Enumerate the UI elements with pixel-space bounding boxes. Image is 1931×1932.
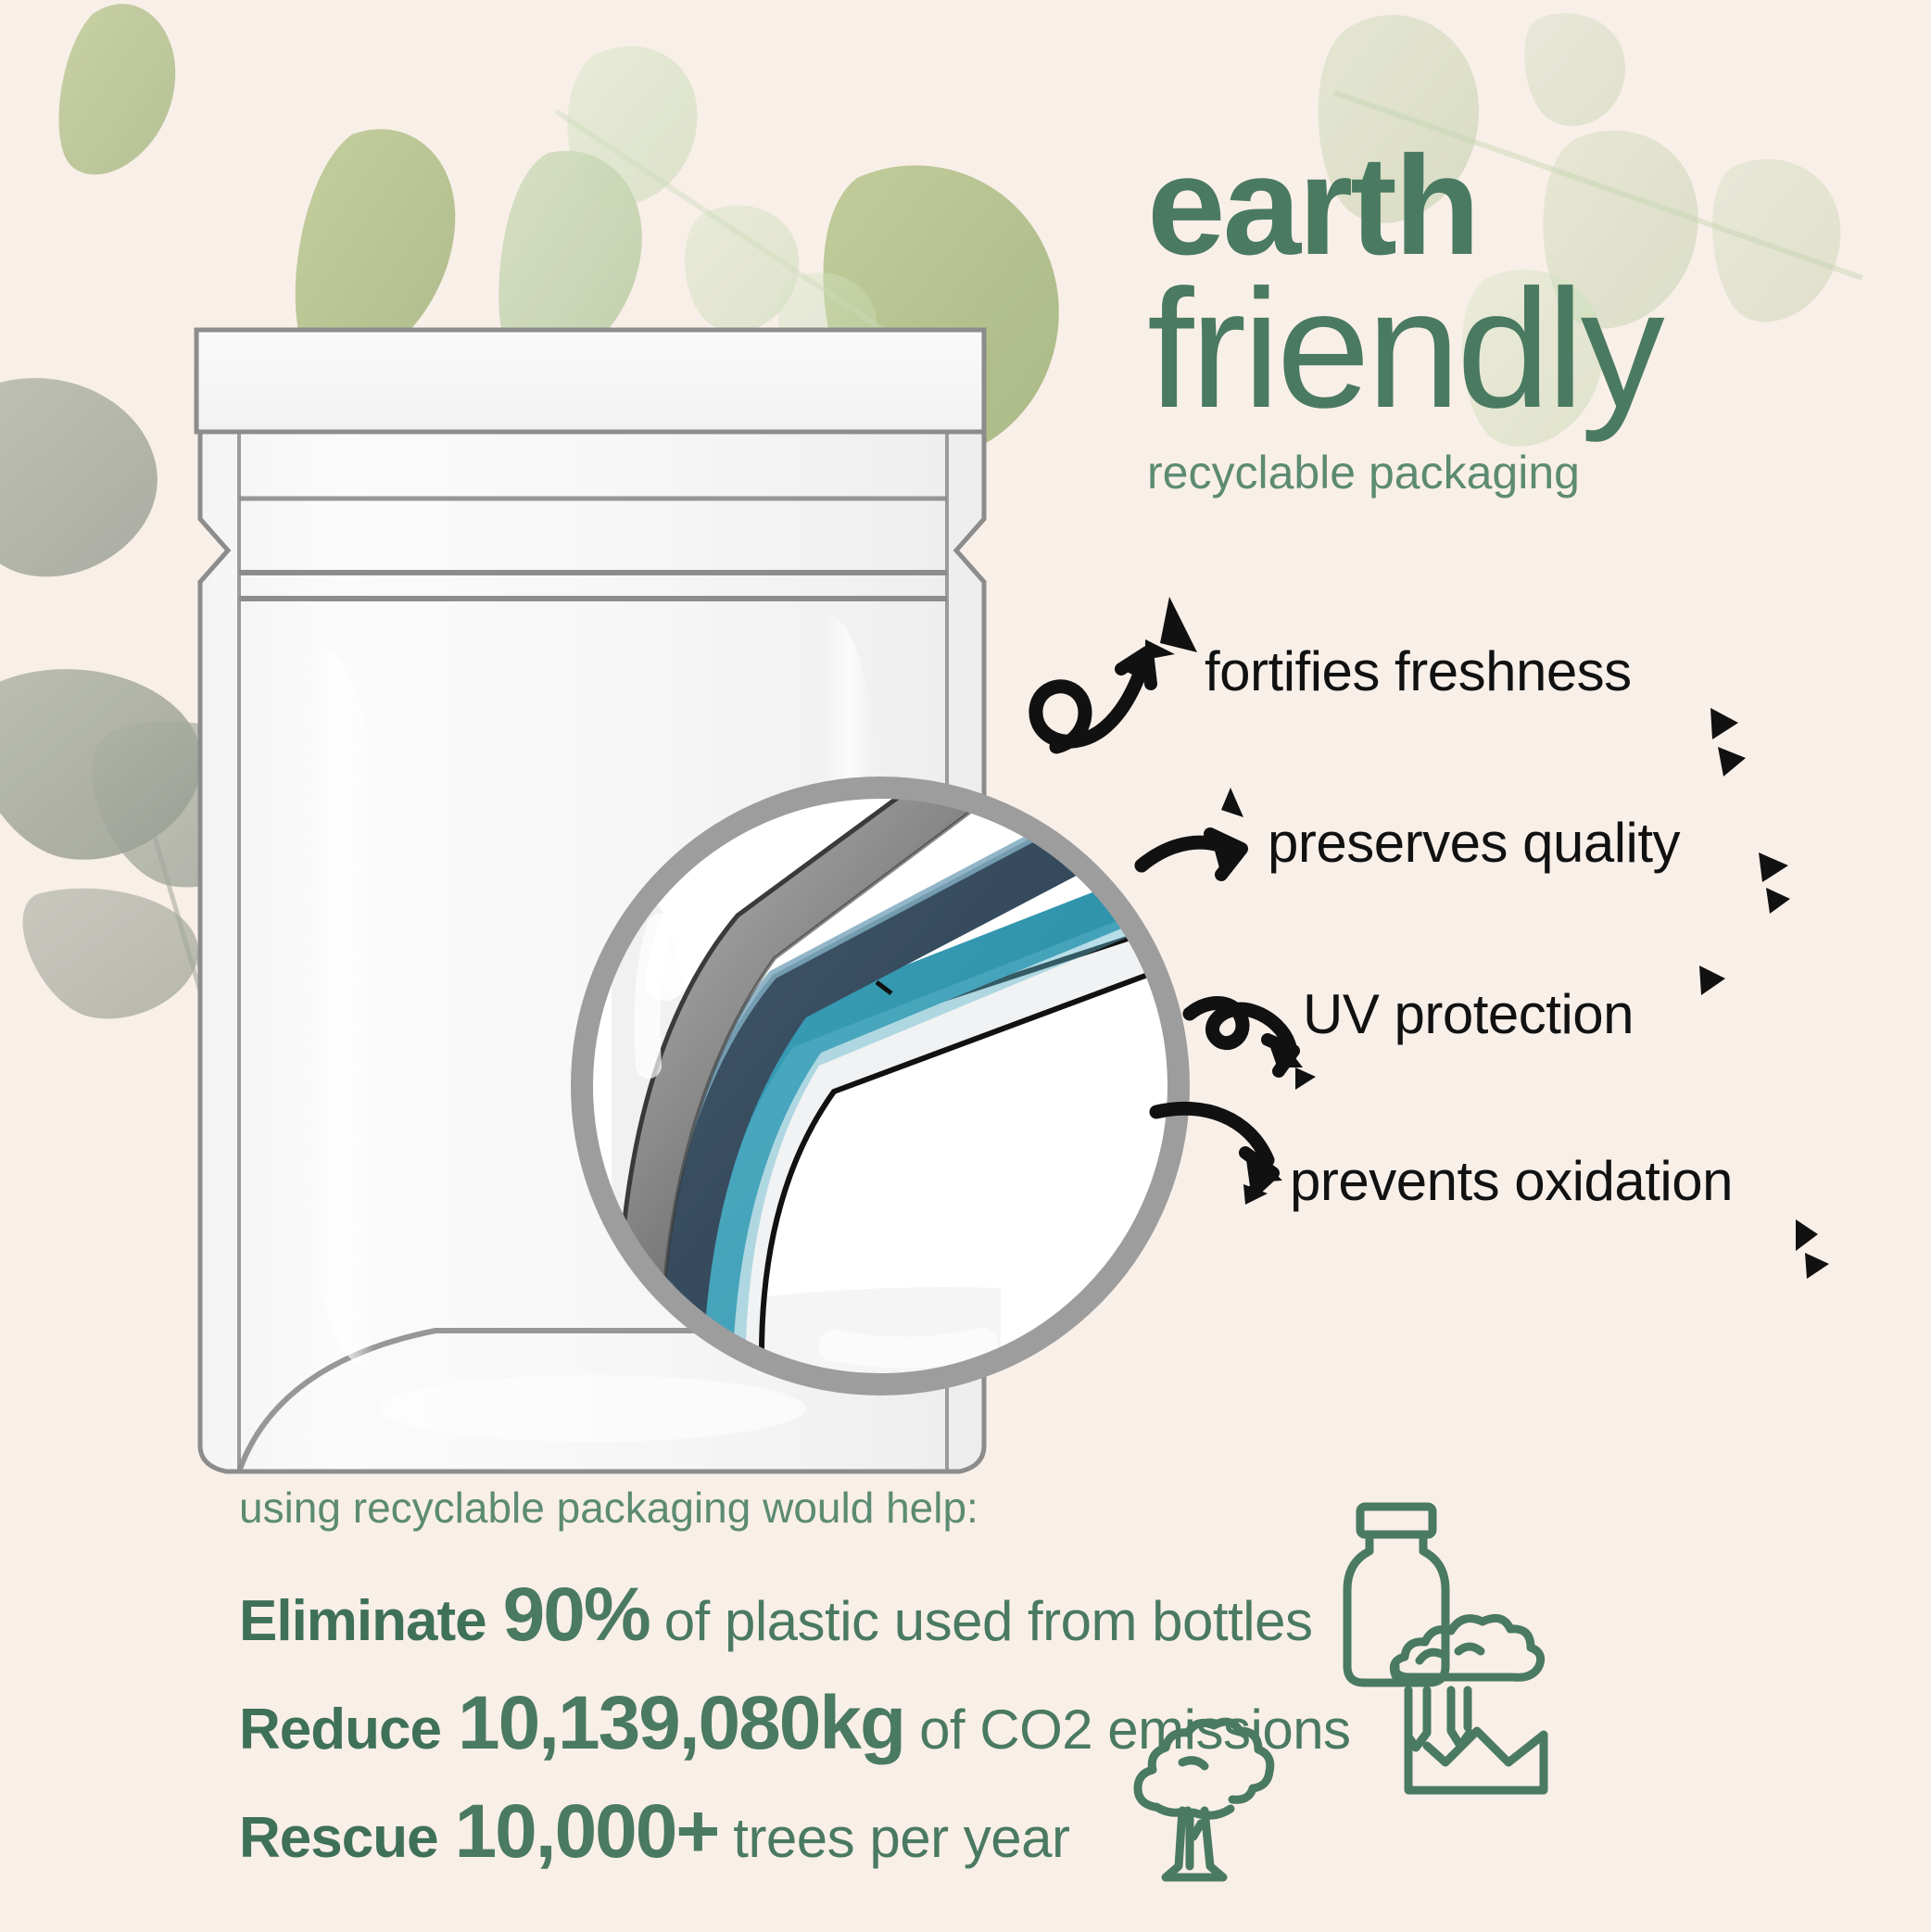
callout-label-fortifies-freshness: fortifies freshness [1205,639,1632,703]
headline-subtitle: recyclable packaging [1147,446,1907,499]
stat-tail: trees per year [733,1806,1069,1870]
tree-icon [1104,1735,1281,1901]
curly-arrow-icon [1036,652,1151,747]
callout-label-preserves-quality: preserves quality [1268,811,1680,875]
stat-row: Rescue 10,000+ trees per year [239,1794,1685,1871]
stats-intro-text: using recyclable packaging would help: [239,1483,1685,1533]
stat-tail: of plastic used from bottles [664,1589,1313,1653]
stat-verb: Reduce [239,1697,441,1762]
loop-arrow-icon [1190,1004,1294,1071]
stat-value: 10,000+ [455,1794,719,1870]
callout-label-uv-protection: UV protection [1303,982,1634,1046]
stat-value: 10,139,080kg [458,1686,904,1762]
stat-verb: Rescue [239,1805,438,1871]
callout-label-prevents-oxidation: prevents oxidation [1290,1149,1733,1213]
infographic-canvas: earth friendly recyclable packaging fort… [0,0,1931,1932]
curved-arrow-icon [1142,834,1242,875]
headline-line-friendly: friendly [1147,269,1907,429]
stat-value: 90% [503,1577,650,1653]
stat-verb: Eliminate [239,1588,486,1654]
headline-block: earth friendly recyclable packaging [1147,139,1907,499]
factory-icon [1379,1614,1564,1799]
hook-arrow-icon [1156,1108,1273,1193]
